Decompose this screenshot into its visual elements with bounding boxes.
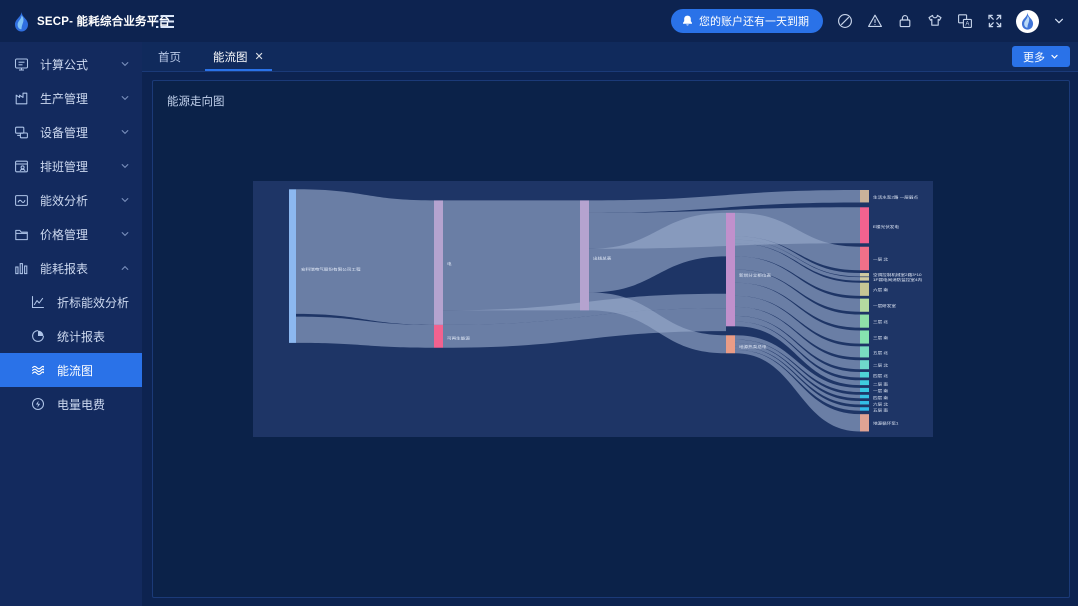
sankey-node-label: 三层 南 [873, 336, 888, 340]
sankey-node[interactable] [860, 380, 869, 385]
tab-bar: 首页 能流图 ✕ 更多 [142, 42, 1078, 72]
sankey-node[interactable] [289, 189, 296, 343]
chevron-down-icon [119, 127, 130, 138]
sankey-node[interactable] [860, 388, 869, 392]
tab-nengliutu[interactable]: 能流图 ✕ [197, 42, 280, 71]
page-title: 能源走向图 [167, 93, 1055, 109]
line-chart-icon [30, 295, 45, 310]
sankey-node[interactable] [860, 407, 869, 410]
sidebar-item-label: 设备管理 [40, 124, 108, 141]
compass-icon[interactable] [836, 13, 853, 30]
sidebar-item-label: 计算公式 [40, 56, 108, 73]
sankey-node-label: 新增分立柜位表 [739, 273, 771, 277]
sankey-node-label: 1F弱电间消防监控室4内 [873, 278, 922, 282]
sidebar-item-label: 能效分析 [40, 192, 108, 209]
sidebar-item-label: 电量电费 [57, 396, 130, 413]
sankey-node[interactable] [860, 360, 869, 369]
flame-droplet-icon [13, 11, 30, 32]
sankey-node-label: 三层 北 [873, 320, 888, 324]
sankey-node[interactable] [860, 299, 869, 312]
sankey-node[interactable] [860, 346, 869, 357]
theme-shirt-icon[interactable] [926, 13, 943, 30]
sidebar-item-label: 能流图 [57, 362, 130, 379]
sankey-node[interactable] [860, 315, 869, 328]
sankey-node[interactable] [860, 283, 869, 296]
sankey-node-label: 一层研发室 [873, 304, 896, 308]
warning-icon[interactable] [866, 13, 883, 30]
brand: SECP- 能耗综合业务平台 [0, 0, 142, 42]
sankey-node-label: 四层 南 [873, 396, 888, 400]
sankey-node[interactable] [860, 330, 869, 343]
body-wrapper: 计算公式 生产管理 [0, 42, 1078, 606]
sankey-node[interactable] [860, 414, 869, 431]
sankey-node[interactable] [860, 273, 869, 276]
svg-text:A: A [965, 21, 969, 27]
tab-label: 能流图 [213, 49, 248, 65]
chevron-down-icon [119, 93, 130, 104]
sidebar-item-label: 统计报表 [57, 328, 130, 345]
sankey-node-label: 电 [447, 262, 452, 266]
more-button[interactable]: 更多 [1012, 46, 1070, 67]
sidebar-item-nengliutu[interactable]: 能流图 [0, 353, 142, 387]
sankey-node-label: 二层 南 [873, 382, 888, 386]
chevron-down-icon [119, 59, 130, 70]
close-icon[interactable]: ✕ [255, 50, 264, 63]
more-button-label: 更多 [1023, 49, 1045, 65]
sankey-node-label: 六层 北 [873, 402, 888, 406]
analysis-icon [14, 193, 29, 208]
account-expire-text: 您的账户还有一天到期 [699, 13, 809, 29]
sankey-node-label: 地源循环泵1 [873, 421, 898, 425]
sankey-node-label: 空调控制机械室2路3*10 [873, 273, 923, 277]
lock-icon[interactable] [896, 13, 913, 30]
sankey-node-label: E楼光伏发电 [873, 225, 899, 229]
sankey-node-label: 一层 南 [873, 389, 888, 393]
sidebar-item-paibanguanli[interactable]: 排班管理 [0, 149, 142, 183]
sankey-node[interactable] [434, 325, 443, 348]
sidebar-item-shengchanguanli[interactable]: 生产管理 [0, 81, 142, 115]
main-area: 首页 能流图 ✕ 更多 能源走向图 安科瑞电气股份有限公司工程电可 [142, 42, 1078, 606]
chevron-down-icon [119, 195, 130, 206]
sidebar-item-jisuangongshi[interactable]: 计算公式 [0, 47, 142, 81]
sidebar-item-dianliangdianfei[interactable]: 电量电费 [0, 387, 142, 421]
sankey-node[interactable] [726, 213, 735, 326]
content-area: 能源走向图 安科瑞电气股份有限公司工程电可再生能源出线总表新增分立柜位表地源热泵… [142, 72, 1078, 606]
top-bar-actions: 您的账户还有一天到期 [671, 9, 1078, 33]
sankey-node-label: 生活水泵2路 一层弱点 [873, 195, 918, 199]
folder-icon [14, 227, 29, 242]
sankey-node-label: 六层 南 [873, 288, 888, 292]
sidebar-item-label: 排班管理 [40, 158, 108, 175]
menu-collapse-icon[interactable] [154, 10, 176, 32]
brand-title: SECP- 能耗综合业务平台 [37, 13, 170, 29]
sidebar-item-nengxiaofenxi[interactable]: 能效分析 [0, 183, 142, 217]
schedule-icon [14, 159, 29, 174]
sidebar-item-label: 价格管理 [40, 226, 108, 243]
sidebar-submenu-nenghaobaobiao: 折标能效分析 统计报表 [0, 285, 142, 421]
sankey-node-label: 地源热泵总电 [739, 345, 767, 349]
application-root: SECP- 能耗综合业务平台 您的账户还有一天到期 [0, 0, 1078, 606]
sidebar-item-label: 折标能效分析 [57, 294, 130, 311]
factory-icon [14, 91, 29, 106]
sankey-node-label: 可再生能源 [447, 336, 470, 340]
chevron-down-icon [119, 161, 130, 172]
bar-chart-icon [14, 261, 29, 276]
sidebar-item-zhebiaonengxiaofenxi[interactable]: 折标能效分析 [0, 285, 142, 319]
sankey-link[interactable] [296, 189, 434, 325]
sankey-node-label: 安科瑞电气股份有限公司工程 [301, 267, 361, 271]
sidebar-item-shebeiguanli[interactable]: 设备管理 [0, 115, 142, 149]
pie-chart-icon [30, 329, 45, 344]
sankey-node-label: 二层 北 [873, 363, 888, 367]
sankey-node[interactable] [860, 190, 869, 202]
fullscreen-icon[interactable] [986, 13, 1003, 30]
tab-label: 首页 [158, 49, 181, 65]
sankey-node[interactable] [860, 372, 869, 378]
chevron-down-icon [1050, 52, 1059, 61]
chevron-up-icon [119, 263, 130, 274]
sankey-node[interactable] [860, 247, 869, 271]
sankey-node[interactable] [860, 401, 869, 404]
sankey-node[interactable] [860, 277, 869, 280]
tab-home[interactable]: 首页 [142, 42, 197, 71]
account-expire-badge[interactable]: 您的账户还有一天到期 [671, 9, 823, 33]
sankey-node[interactable] [434, 200, 443, 325]
translate-icon[interactable]: A [956, 13, 973, 30]
user-avatar-icon[interactable] [1016, 10, 1039, 33]
sankey-node-label: 五层 南 [873, 408, 888, 412]
sankey-node-label: 四层 北 [873, 374, 888, 378]
sidebar: 计算公式 生产管理 [0, 42, 142, 606]
sidebar-item-label: 能耗报表 [40, 260, 108, 277]
sidebar-item-label: 生产管理 [40, 90, 108, 107]
sidebar-item-nenghaobaobiao[interactable]: 能耗报表 [0, 251, 142, 285]
sankey-chart[interactable]: 安科瑞电气股份有限公司工程电可再生能源出线总表新增分立柜位表地源热泵总电生活水泵… [253, 181, 933, 437]
sidebar-item-jiageguanli[interactable]: 价格管理 [0, 217, 142, 251]
energy-flow-card: 能源走向图 安科瑞电气股份有限公司工程电可再生能源出线总表新增分立柜位表地源热泵… [152, 80, 1070, 598]
chevron-down-icon[interactable] [1052, 15, 1065, 28]
lightning-icon [30, 397, 45, 412]
sankey-link[interactable] [443, 200, 580, 310]
bell-icon [682, 15, 693, 27]
device-icon [14, 125, 29, 140]
sankey-node[interactable] [860, 395, 869, 398]
sankey-node-label: 五层 北 [873, 351, 888, 355]
sankey-node[interactable] [580, 200, 589, 310]
sankey-node-label: 出线总表 [593, 256, 611, 260]
formula-icon [14, 57, 29, 72]
chevron-down-icon [119, 229, 130, 240]
wave-icon [30, 363, 45, 378]
sankey-node[interactable] [860, 207, 869, 243]
sidebar-item-tongjibaobiao[interactable]: 统计报表 [0, 319, 142, 353]
sankey-node-label: 一层 北 [873, 257, 888, 261]
top-bar: SECP- 能耗综合业务平台 您的账户还有一天到期 [0, 0, 1078, 42]
sankey-node[interactable] [726, 335, 735, 353]
